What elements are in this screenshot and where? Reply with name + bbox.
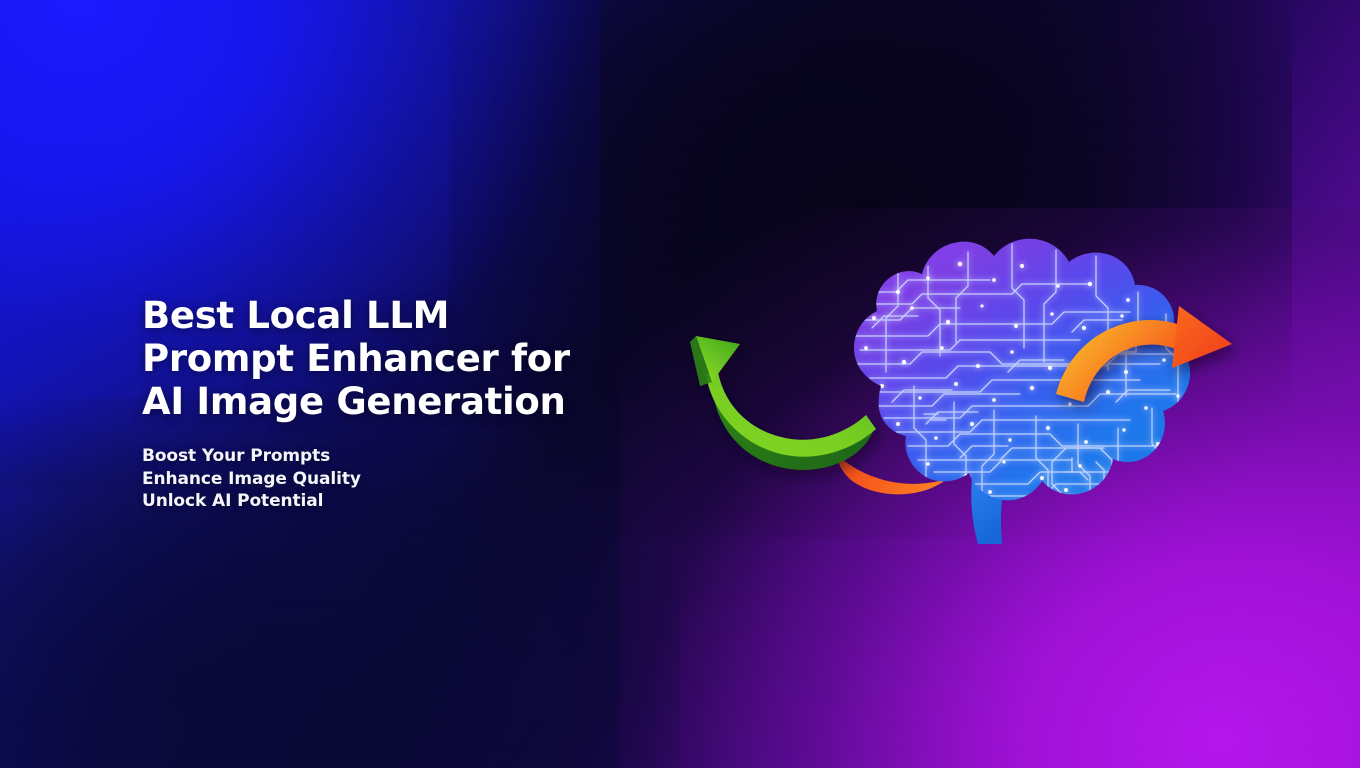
headline-line-3: AI Image Generation bbox=[142, 380, 702, 423]
brain-illustration bbox=[660, 196, 1280, 596]
subtitle-line-1: Boost Your Prompts bbox=[142, 445, 702, 468]
headline-line-1: Best Local LLM bbox=[142, 294, 702, 337]
green-arrow-left-icon bbox=[690, 336, 876, 470]
subtitle-line-3: Unlock AI Potential bbox=[142, 490, 702, 513]
page-title: Best Local LLM Prompt Enhancer for AI Im… bbox=[142, 294, 702, 423]
brain-silhouette bbox=[852, 239, 1190, 544]
subtitle-line-2: Enhance Image Quality bbox=[142, 468, 702, 491]
subtitle-list: Boost Your Prompts Enhance Image Quality… bbox=[142, 445, 702, 513]
headline-line-2: Prompt Enhancer for bbox=[142, 337, 702, 380]
copy-block: Best Local LLM Prompt Enhancer for AI Im… bbox=[142, 294, 702, 513]
poster-canvas: Best Local LLM Prompt Enhancer for AI Im… bbox=[0, 0, 1360, 768]
